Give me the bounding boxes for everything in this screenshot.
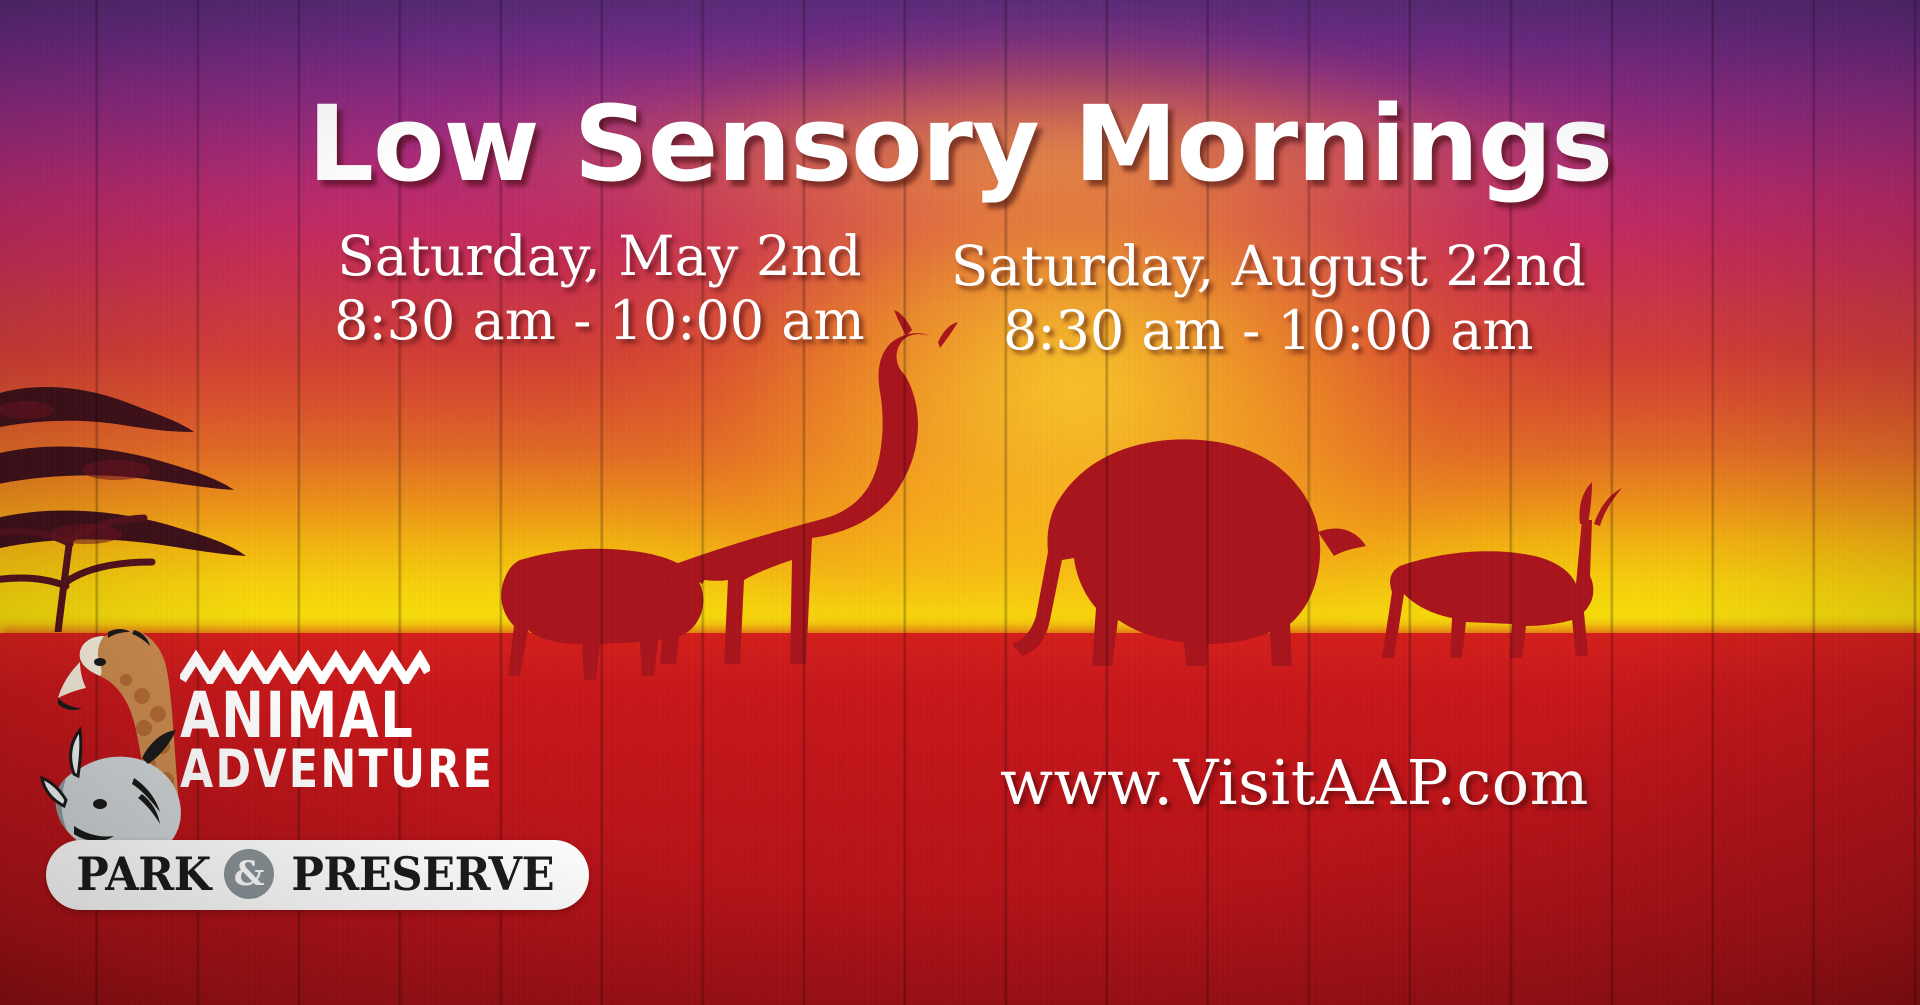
event-two: Saturday, August 22nd 8:30 am - 10:00 am <box>951 222 1586 363</box>
event-two-date: Saturday, August 22nd <box>951 234 1586 299</box>
page-title: Low Sensory Mornings <box>0 92 1920 196</box>
badge-preserve-label: PRESERVE <box>292 851 555 897</box>
ampersand-icon: & <box>224 849 274 899</box>
badge-park-label: PARK <box>76 851 211 897</box>
event-poster: Low Sensory Mornings Saturday, May 2nd 8… <box>0 0 1920 1005</box>
animal-adventure-park-logo[interactable]: ANIMAL ADVENTURE PARK & PRESERVE <box>38 628 468 968</box>
event-one: Saturday, May 2nd 8:30 am - 10:00 am <box>334 222 865 353</box>
logo-line-animal: ANIMAL <box>180 686 441 745</box>
park-preserve-badge: PARK & PRESERVE <box>46 840 589 910</box>
logo-line-adventure: ADVENTURE <box>180 745 441 795</box>
event-dates: Saturday, May 2nd 8:30 am - 10:00 am Sat… <box>0 222 1920 363</box>
event-one-date: Saturday, May 2nd <box>334 224 865 289</box>
rhino-logo-icon <box>42 730 181 858</box>
logo-wordmark: ANIMAL ADVENTURE <box>180 650 470 795</box>
event-one-time: 8:30 am - 10:00 am <box>334 289 865 353</box>
event-two-time: 8:30 am - 10:00 am <box>951 299 1586 363</box>
website-url[interactable]: www.VisitAAP.com <box>1000 746 1589 819</box>
